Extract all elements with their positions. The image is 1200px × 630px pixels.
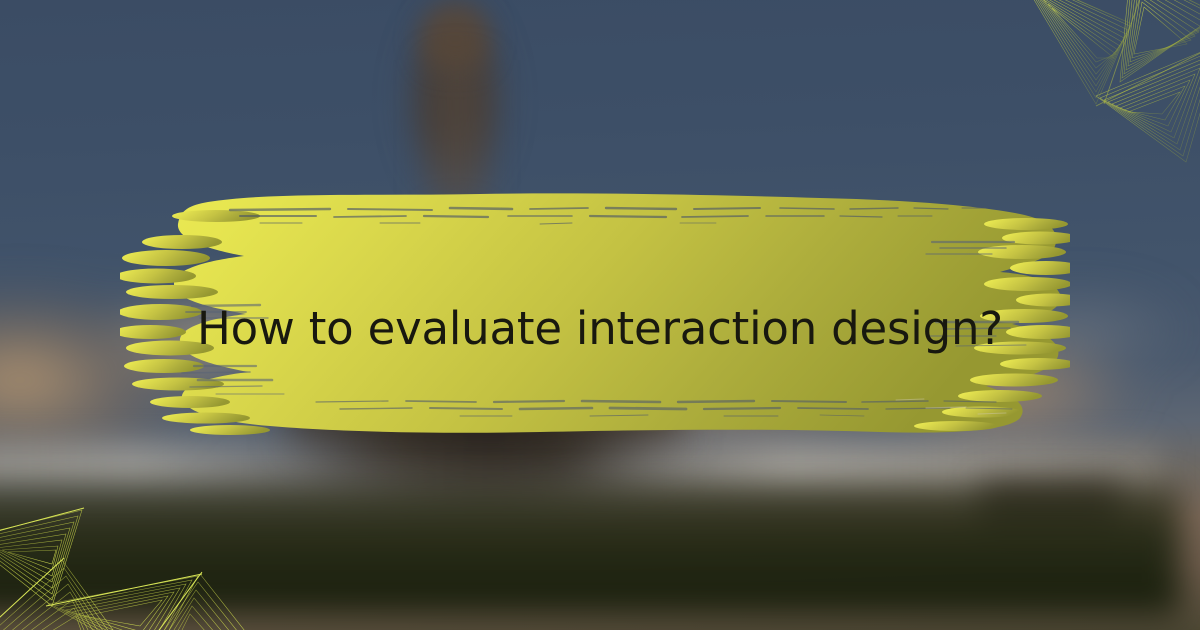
page-title: How to evaluate interaction design? [0,300,1200,358]
foreground-grass [0,485,1180,615]
header-card: How to evaluate interaction design? [0,0,1200,630]
